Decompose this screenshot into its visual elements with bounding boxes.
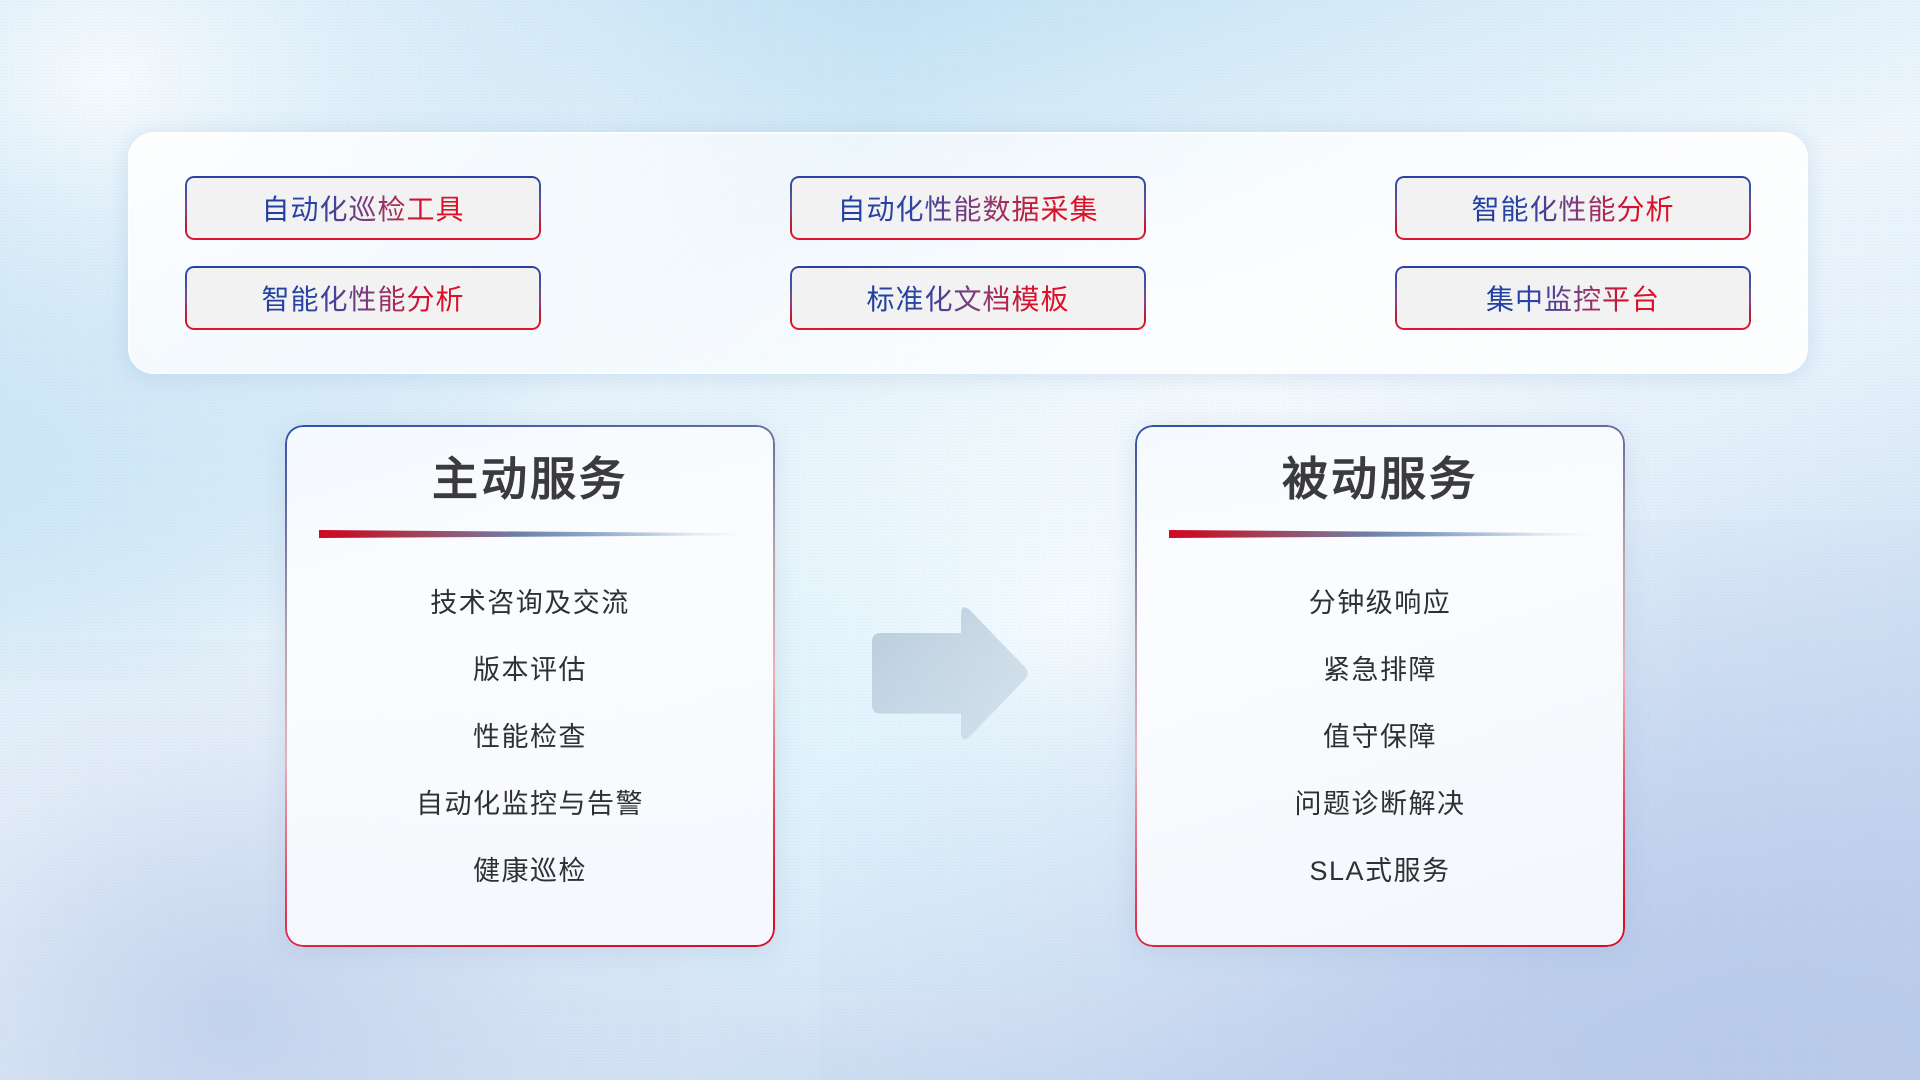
service-list: 技术咨询及交流 版本评估 性能检查 自动化监控与告警 健康巡检 (319, 570, 741, 905)
service-list-item: SLA式服务 (1309, 838, 1450, 905)
service-list-item: 值守保障 (1323, 704, 1437, 771)
capability-tag[interactable]: 自动化性能数据采集 (790, 176, 1146, 240)
service-list-item: 健康巡检 (473, 838, 587, 905)
capabilities-row-2: 智能化性能分析 标准化文档模板 集中监控平台 (185, 266, 1751, 330)
service-list-item: 技术咨询及交流 (430, 570, 630, 637)
capabilities-panel: 自动化巡检工具 自动化性能数据采集 智能化性能分析 智能化性能分析 标准化文档模… (128, 132, 1808, 374)
capability-tag-label: 标准化文档模板 (866, 278, 1069, 318)
capability-tag[interactable]: 智能化性能分析 (1395, 176, 1751, 240)
right-arrow-icon (862, 600, 1030, 740)
capability-tag-label: 智能化性能分析 (261, 278, 464, 318)
service-card-proactive: 主动服务 (285, 425, 775, 947)
gradient-divider (319, 528, 741, 540)
capabilities-row-1: 自动化巡检工具 自动化性能数据采集 智能化性能分析 (185, 176, 1751, 240)
capability-tag-label: 集中监控平台 (1486, 278, 1660, 318)
capability-tag-label: 自动化性能数据采集 (837, 188, 1098, 228)
service-list-item: 自动化监控与告警 (416, 771, 644, 838)
service-card-body: 被动服务 (1135, 425, 1625, 947)
service-list-item: 分钟级响应 (1309, 570, 1452, 637)
service-card-title: 主动服务 (432, 453, 628, 506)
service-list-item: 紧急排障 (1323, 637, 1437, 704)
service-list-item: 版本评估 (473, 637, 587, 704)
service-list-item: 性能检查 (473, 704, 587, 771)
capability-tag[interactable]: 自动化巡检工具 (185, 176, 541, 240)
service-card-reactive: 被动服务 (1135, 425, 1625, 947)
service-card-title: 被动服务 (1282, 453, 1478, 506)
capability-tag[interactable]: 集中监控平台 (1395, 266, 1751, 330)
slide-canvas: 自动化巡检工具 自动化性能数据采集 智能化性能分析 智能化性能分析 标准化文档模… (0, 0, 1920, 1080)
capability-tag-label: 智能化性能分析 (1471, 188, 1674, 228)
service-list-item: 问题诊断解决 (1295, 771, 1466, 838)
capability-tag[interactable]: 标准化文档模板 (790, 266, 1146, 330)
gradient-divider (1169, 528, 1591, 540)
service-card-body: 主动服务 (285, 425, 775, 947)
service-list: 分钟级响应 紧急排障 值守保障 问题诊断解决 SLA式服务 (1169, 570, 1591, 905)
capability-tag-label: 自动化巡检工具 (261, 188, 464, 228)
capability-tag[interactable]: 智能化性能分析 (185, 266, 541, 330)
